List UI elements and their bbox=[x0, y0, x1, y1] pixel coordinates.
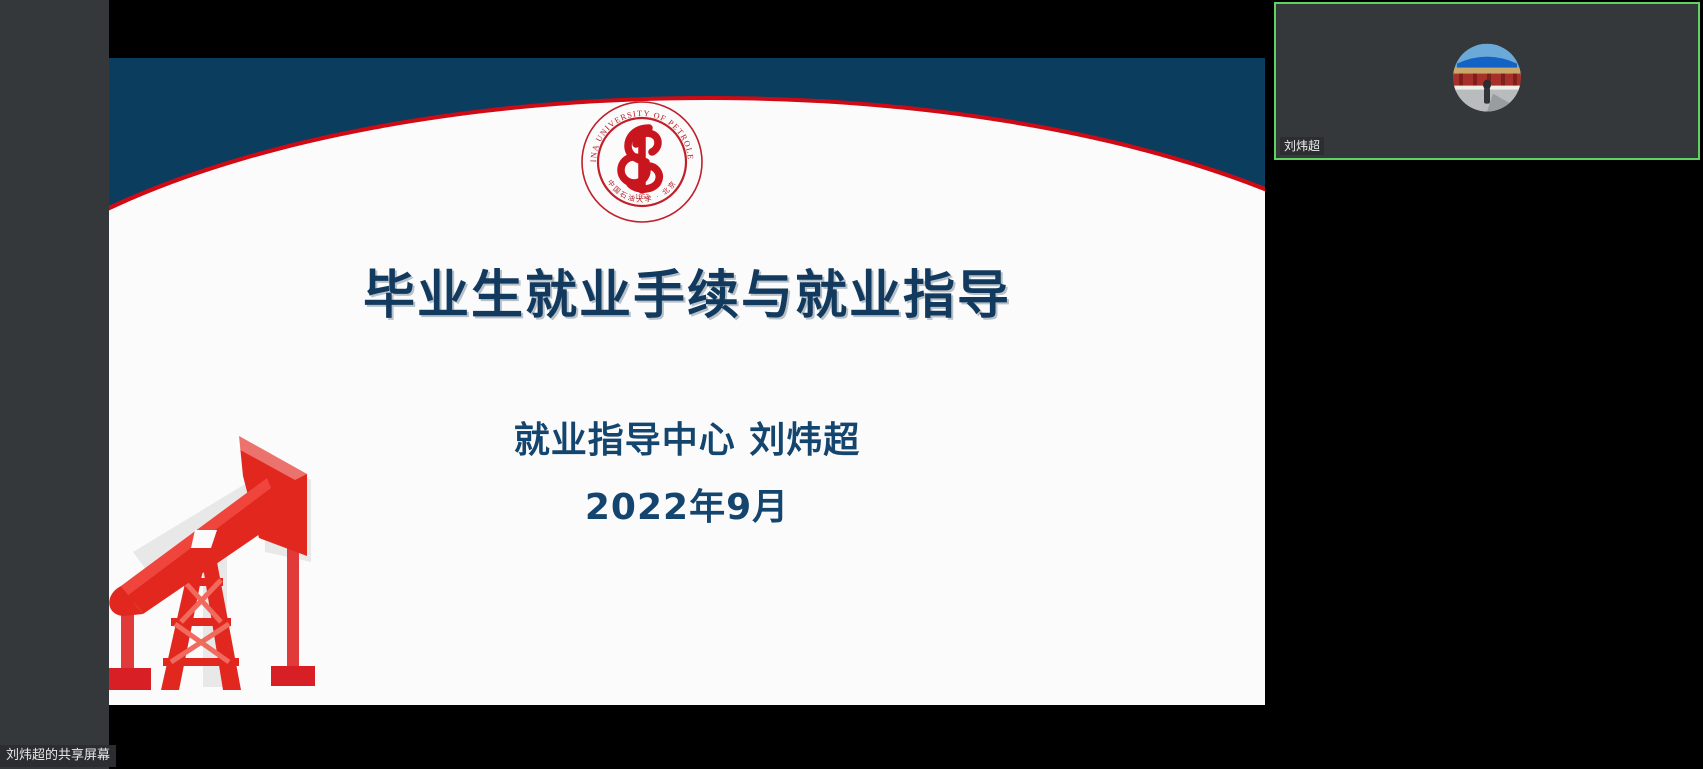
participant-name: 刘炜超 bbox=[1280, 137, 1324, 155]
svg-text:1953: 1953 bbox=[635, 193, 650, 201]
shared-screen-stage[interactable]: CHINA UNIVERSITY OF PETROLEUM 中国石油大学 · 北… bbox=[0, 0, 1265, 769]
pumpjack-icon bbox=[109, 418, 329, 705]
participant-filmstrip: 刘炜超 bbox=[1265, 0, 1703, 769]
presentation-slide: CHINA UNIVERSITY OF PETROLEUM 中国石油大学 · 北… bbox=[109, 58, 1265, 705]
participant-tile[interactable]: 刘炜超 bbox=[1274, 2, 1700, 160]
zoom-meeting-window: CHINA UNIVERSITY OF PETROLEUM 中国石油大学 · 北… bbox=[0, 0, 1703, 769]
university-logo-icon: CHINA UNIVERSITY OF PETROLEUM 中国石油大学 · 北… bbox=[578, 98, 706, 226]
avatar bbox=[1453, 44, 1521, 112]
slide-title: 毕业生就业手续与就业指导 bbox=[109, 253, 1265, 328]
shared-screen-label: 刘炜超的共享屏幕 bbox=[0, 745, 116, 767]
